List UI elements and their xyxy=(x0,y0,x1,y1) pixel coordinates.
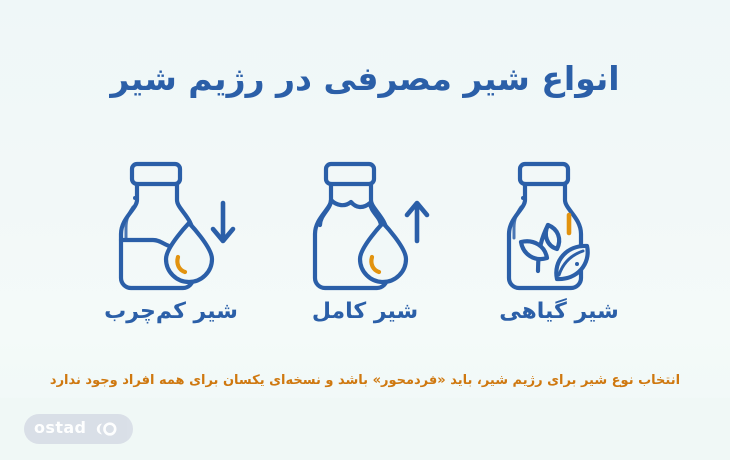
milk-type-label-row: شیر کم‌چرب شیر کامل شیر گیاهی xyxy=(0,294,730,328)
infographic-poster: انواع شیر مصرفی در رژیم شیر xyxy=(0,0,730,460)
arrow-up-icon xyxy=(407,203,427,241)
ostad-logo: ostad xyxy=(24,414,133,444)
milk-type-item-low-fat-milk xyxy=(96,144,246,294)
page-title: انواع شیر مصرفی در رژیم شیر xyxy=(0,58,730,99)
milk-type-item-whole-milk xyxy=(290,144,440,294)
arrow-down-icon xyxy=(213,203,233,241)
bottle-whole-milk-icon xyxy=(297,145,433,293)
milk-type-item-plant-milk xyxy=(484,144,634,294)
label-whole-milk: شیر کامل xyxy=(290,299,440,324)
label-low-fat-milk: شیر کم‌چرب xyxy=(96,299,246,324)
milk-type-icon-row xyxy=(0,144,730,294)
bottle-plant-milk-icon xyxy=(491,145,627,293)
ostad-logo-mark xyxy=(93,421,119,437)
footer-note: انتخاب نوع شیر برای رژیم شیر، باید «فردم… xyxy=(0,373,730,388)
label-plant-milk: شیر گیاهی xyxy=(484,299,634,324)
ostad-logo-text: ostad xyxy=(34,420,86,438)
bottle-low-fat-icon xyxy=(103,145,239,293)
